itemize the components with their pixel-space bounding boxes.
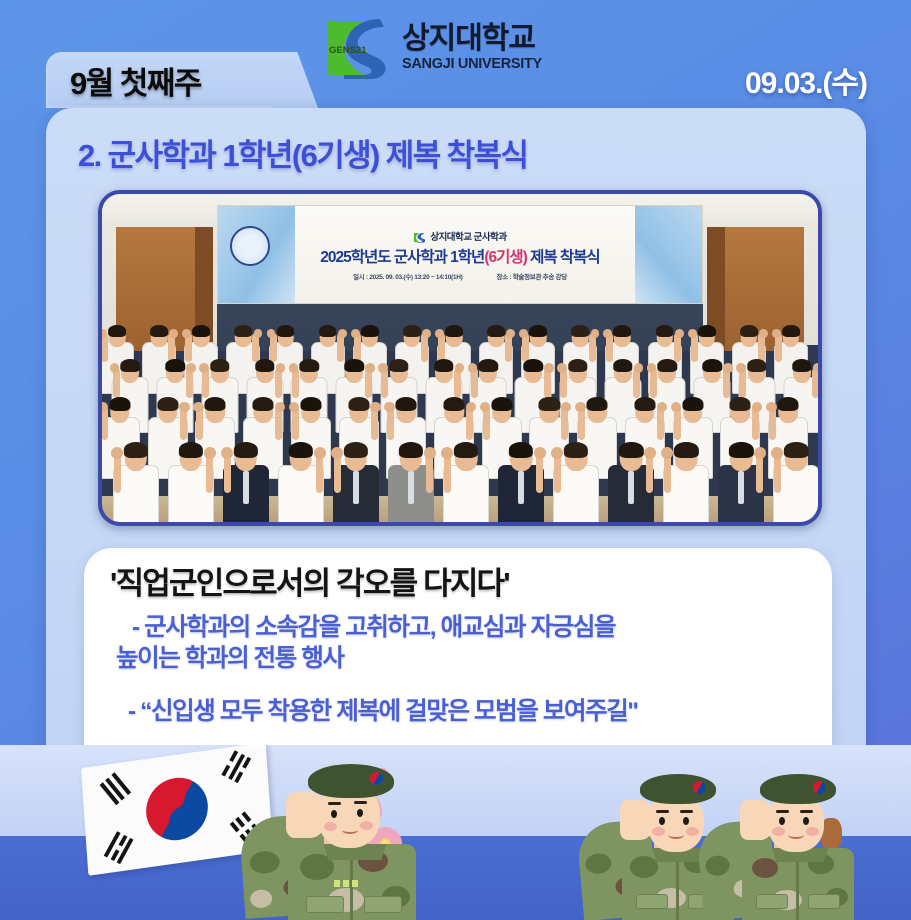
soldier-cheek [806,827,819,836]
photo-person-hair [778,397,799,411]
photo-person [223,433,269,526]
photo-person-fist [736,363,746,373]
week-tab: 9월 첫째주 [46,52,296,108]
photo-person-fist [634,363,644,373]
photo-person-fist [766,402,776,412]
photo-person-fist [314,447,326,459]
photo-person-hair [740,325,758,337]
photo-person-fist [179,402,189,412]
soldier-illustration-1 [232,758,432,920]
photo-person-hair [568,359,587,372]
logo-name-kr: 상지대학교 [402,24,542,54]
photo-person-hair [344,442,368,458]
photo-person-hair [348,397,369,411]
photo-person-hair [178,442,202,458]
photo-person-tie [628,471,634,504]
soldier-brow [328,802,341,805]
bottom-illustration [0,745,911,920]
soldier-beret-icon [308,764,394,798]
soldier-cheek [686,827,699,836]
photo-person [168,433,214,526]
photo-person-fist [422,329,431,338]
photo-person [553,433,599,526]
photo-person-tie [353,471,359,504]
photo-person-fist [759,329,768,338]
soldier-uniform-torso [288,844,416,920]
soldier-beret-icon [760,774,836,804]
sangji-logo-mark-icon: GENS21 [320,15,392,81]
photo-person-fist [591,329,600,338]
soldier-rank-insignia [334,880,358,887]
photo-person-hair [277,325,295,337]
photo-person-fist [551,447,563,459]
photo-person-fist [193,402,203,412]
photo-person-hair [210,359,229,372]
date-label: 09.03.(수) [745,58,867,102]
photo-person-hair [319,325,337,337]
soldier-eye [779,817,785,825]
photo-person-fist [98,329,107,338]
soldier-eye [803,817,809,825]
photo-person [498,433,544,526]
photo-person-hair [157,397,178,411]
summary-bullet-1-line-1: - 군사학과의 소속감을 고취하고, 애교심과 자긍심을 [110,612,806,643]
photo-person [333,433,379,526]
photo-person [388,433,434,526]
photo-person-hair [619,442,643,458]
photo-person-hair [792,359,811,372]
soldier-cheek [324,822,337,831]
soldier-eye [659,817,665,825]
trigram-geon-icon [97,772,131,807]
photo-person-hair [613,359,632,372]
banner-sub-row: 일시 : 2025. 09. 03.(수) 13:20 ~ 14:10(1H) … [353,271,567,281]
soldier-eye [331,810,337,818]
photo-person-hair [389,359,408,372]
poster-root: GENS21 상지대학교 SANGJI UNIVERSITY 9월 첫째주 09… [0,0,911,920]
photo-crowd [102,319,818,522]
photo-person-hair [253,397,274,411]
photo-person-hair [109,397,130,411]
photo-person-fist [331,447,343,459]
photo-person-hair [192,325,210,337]
photo-person-hair [539,397,560,411]
photo-person [773,433,819,526]
photo-person-hair [454,442,478,458]
photo-person-hair [509,442,533,458]
photo-person-fist [351,329,360,338]
photo-person [608,433,654,526]
photo-person-fist [519,329,528,338]
banner-main-title: 2025학년도 군사학과 1학년(6기생) 제복 착복식 [320,245,599,267]
soldier-illustration-3 [700,770,868,920]
photo-person-hair [571,325,589,337]
photo-person-tie [408,471,414,504]
photo-person-fist [199,363,209,373]
banner-main-highlight: (6기생) [484,249,526,266]
soldier-cheek [360,821,373,830]
photo-person-hair [784,442,808,458]
banner-datetime: 일시 : 2025. 09. 03.(수) 13:20 ~ 14:10(1H) [353,271,462,281]
mugunghwa-flowers-small [0,830,20,920]
photo-person-fist [661,447,673,459]
logo-svg: GENS21 [320,15,392,81]
photo-person-hair [205,397,226,411]
photo-person-fist [657,402,667,412]
soldier-cheek [652,827,665,836]
soldier-placket [676,854,679,920]
photo-person [663,433,709,526]
photo-person-hair [344,359,363,372]
trigram-ri-icon [104,831,137,865]
photo-person-hair [434,359,453,372]
photo-person-fist [169,329,178,338]
photo-person-hair [399,442,423,458]
photo-person-hair [487,325,505,337]
photo-person-fist [435,329,444,338]
summary-box: '직업군인으로서의 각오를 다지다' - 군사학과의 소속감을 고취하고, 애교… [84,548,832,770]
photo-person-hair [165,359,184,372]
soldier-brow [354,801,367,804]
photo-person-fist [675,329,684,338]
photo-person-hair [529,325,547,337]
event-banner: 상지대학교 군사학과 2025학년도 군사학과 1학년(6기생) 제복 착복식 … [217,205,704,303]
photo-person-hair [396,397,417,411]
photo-person-fist [544,363,554,373]
photo-person-hair [634,397,655,411]
soldier-pocket [306,896,344,913]
photo-person-fist [275,402,285,412]
photo-person-hair [730,397,751,411]
soldier-brow [776,810,789,813]
university-logo: GENS21 상지대학교 SANGJI UNIVERSITY [320,12,600,84]
photo-person-fist [772,329,781,338]
soldier-pocket [636,894,668,909]
soldier-brow [656,810,669,813]
photo-person-hair [682,397,703,411]
photo-person-hair [698,325,716,337]
logo-text-block: 상지대학교 SANGJI UNIVERSITY [402,24,542,72]
photo-person [278,433,324,526]
banner-main-suffix: 제복 착복식 [527,249,600,266]
photo-person-fist [338,329,347,338]
photo-person-hair [150,325,168,337]
soldier-smile [788,831,804,839]
photo-person-fist [455,363,465,373]
photo-person-hair [235,325,253,337]
photo-person-fist [365,363,375,373]
photo-person-tie [738,471,744,504]
soldier-brow [680,810,693,813]
photo-person-hair [403,325,421,337]
soldier-cheek [772,827,785,836]
photo-person-fist [771,447,783,459]
photo-person-hair [782,325,800,337]
photo-person-fist [575,402,585,412]
banner-seal-icon [230,226,270,266]
photo-person-hair [300,359,319,372]
soldier-eye [357,809,363,817]
photo-person-fist [221,447,233,459]
photo-person-hair [614,325,632,337]
soldier-placket [796,854,799,920]
soldier-eye [683,817,689,825]
taeguk-circle-icon [144,774,210,844]
photo-person-fist [688,329,697,338]
photo-person-hair [523,359,542,372]
photo-person-hair [747,359,766,372]
photo-person-hair [656,325,674,337]
photo-person [113,433,159,526]
photo-person-hair [255,359,274,372]
logo-badge-text: GENS21 [329,45,367,56]
photo-person-fist [204,447,216,459]
photo-person-hair [479,359,498,372]
photo-person-fist [186,363,196,373]
photo-person-hair [234,442,258,458]
soldier-smile [668,831,684,839]
photo-person-hair [289,442,313,458]
photo-person-fist [671,402,681,412]
photo-person-hair [702,359,721,372]
summary-bullet-1-line-2: 높이는 학과의 전통 행사 [110,643,806,674]
photo-person-fist [267,329,276,338]
photo-person-fist [254,329,263,338]
photo-person-fist [182,329,191,338]
photo-person-fist [370,402,380,412]
soldier-smile [342,826,358,834]
photo-person [718,433,764,526]
photo-person-hair [445,325,463,337]
photo-person-tie [518,471,524,504]
photo-person-fist [378,363,388,373]
banner-venue: 장소 : 학술정보관 추송 강당 [497,271,567,281]
banner-main-prefix: 2025학년도 군사학과 1학년 [320,249,484,266]
soldier-uniform-torso [742,848,854,920]
photo-person-hair [361,325,379,337]
soldier-pocket [364,896,402,913]
photo-person-hair [121,359,140,372]
photo-person-hair [300,397,321,411]
banner-logo-icon [413,230,425,241]
page-title: 2. 군사학과 1학년(6기생) 제복 착복식 [78,130,838,175]
banner-emblem-icon [659,224,693,268]
photo-person-fist [506,329,515,338]
logo-name-en: SANGJI UNIVERSITY [402,57,542,72]
photo-person-fist [111,447,123,459]
event-photo: 상지대학교 군사학과 2025학년도 군사학과 1학년(6기생) 제복 착복식 … [98,190,822,526]
photo-person-hair [491,397,512,411]
photo-person-fist [466,402,476,412]
soldier-pocket [756,894,788,909]
photo-person-fist [813,363,822,373]
photo-person-fist [441,447,453,459]
summary-bullet-2: - “신입생 모두 착용한 제복에 걸맞은 모범을 보여주길" [110,696,806,727]
photo-person-fist [723,363,733,373]
photo-person-hair [123,442,147,458]
soldier-brow [800,810,813,813]
photo-person-hair [443,397,464,411]
photo-person-hair [729,442,753,458]
soldier-pocket [808,894,840,909]
banner-top-row: 상지대학교 군사학과 [413,229,506,243]
photo-person-fist [384,402,394,412]
summary-headline: '직업군인으로서의 각오를 다지다' [110,566,806,602]
photo-person-hair [658,359,677,372]
photo-person-hair [587,397,608,411]
photo-person-hair [564,442,588,458]
photo-person-tie [243,471,249,504]
photo-person-fist [276,363,286,373]
week-label: 9월 첫째주 [70,58,201,103]
banner-top-line: 상지대학교 군사학과 [430,229,506,243]
photo-person-fist [557,363,567,373]
photo-person [443,433,489,526]
photo-person-hair [674,442,698,458]
photo-person-hair [108,325,126,337]
